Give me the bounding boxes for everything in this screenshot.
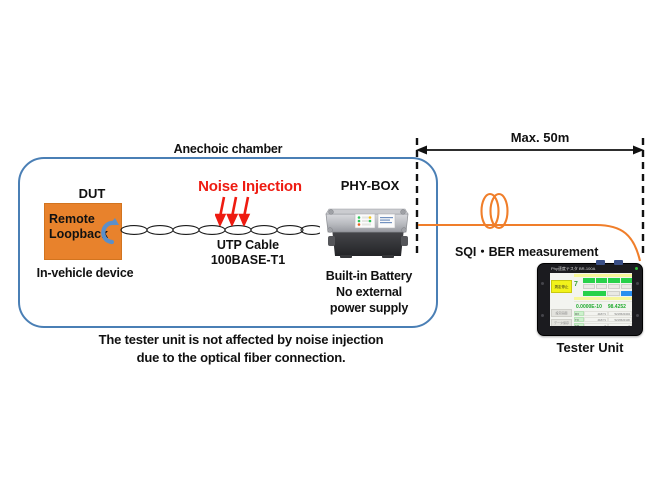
tester-screw	[541, 314, 544, 317]
table-row: TX 4187/1 5216520130	[574, 317, 632, 322]
screen-header-band	[574, 274, 632, 277]
settings-screen-button[interactable]: 設定画面	[551, 309, 572, 317]
dut-title: DUT	[44, 186, 140, 201]
table-row: RX 4187/1 5216520404	[574, 311, 632, 316]
sqi-ber-measurement-label: SQI・BER measurement	[455, 241, 630, 260]
power-led-icon	[635, 267, 638, 270]
diagram-caption: The tester unit is not affected by noise…	[38, 331, 444, 367]
value-row-header	[574, 297, 632, 300]
tester-screen[interactable]: 測定停止 7	[550, 273, 632, 326]
status-cell	[608, 278, 620, 283]
tester-unit-device: Phy速度テスタ BR-100A 測定停止	[537, 263, 643, 336]
measurement-stop-button[interactable]: 測定停止	[551, 280, 572, 293]
row-value-1: 4187/1	[584, 317, 608, 322]
ber-value: 0.0000E-10	[576, 304, 602, 310]
status-cell	[621, 278, 633, 283]
status-cell	[621, 291, 632, 296]
channel-number: 7	[574, 280, 578, 290]
tester-unit-label: Tester Unit	[533, 340, 647, 355]
dut-sublabel: In-vehicle device	[10, 266, 160, 280]
row-value-1: 4187/1	[584, 311, 608, 316]
status-cell	[607, 291, 620, 296]
tester-screw	[636, 282, 639, 285]
status-cell	[583, 291, 606, 296]
row-value-2: 5216520130	[608, 317, 632, 322]
row-value-2: 5216520404	[608, 311, 632, 316]
status-cell	[608, 284, 620, 289]
sqi-value: 98.4252	[608, 304, 626, 310]
status-cell	[621, 284, 633, 289]
tester-connector-right	[614, 260, 623, 265]
anechoic-chamber-label: Anechoic chamber	[18, 142, 438, 156]
row-value-1: 0	[584, 323, 608, 326]
status-cell-row-1	[583, 278, 632, 283]
status-cell-row-3	[583, 291, 632, 296]
row-tag: TX	[574, 317, 584, 322]
row-tag: ER	[574, 323, 584, 326]
tester-screw	[636, 314, 639, 317]
noise-injection-arrows-icon	[215, 196, 261, 226]
row-tag: RX	[574, 311, 584, 316]
utp-cable-label: UTP Cable 100BASE-T1	[178, 238, 318, 268]
diagram-canvas: Anechoic chamber DUT Remote Loopback In-…	[0, 0, 670, 500]
tester-brand-label: Phy速度テスタ BR-100A	[551, 266, 595, 272]
tester-screw	[541, 282, 544, 285]
status-cell	[583, 284, 595, 289]
status-cell	[596, 278, 608, 283]
status-cell	[596, 284, 608, 289]
save-data-button[interactable]: データ保存	[551, 319, 572, 326]
tester-connector-left	[596, 260, 605, 265]
table-row: ER 0 0	[574, 323, 632, 326]
status-cell-row-2	[583, 284, 632, 289]
row-value-2: 0	[608, 323, 632, 326]
status-cell	[583, 278, 595, 283]
dut-box: Remote Loopback	[44, 203, 122, 260]
loopback-arrow-icon	[95, 217, 119, 247]
noise-injection-title: Noise Injection	[170, 178, 330, 195]
